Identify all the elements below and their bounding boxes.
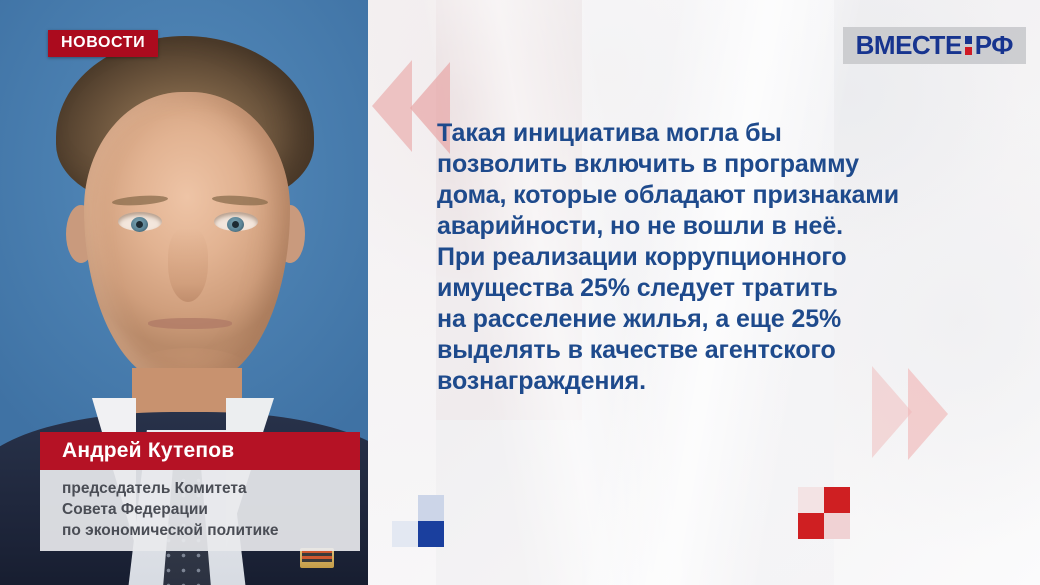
speaker-name: Андрей Кутепов bbox=[40, 432, 360, 470]
speaker-title: председатель Комитета Совета Федерации п… bbox=[40, 470, 360, 551]
colon-dot-top bbox=[965, 36, 972, 44]
chevron-left-icon-outer bbox=[372, 60, 412, 152]
news-badge: НОВОСТИ bbox=[48, 30, 158, 57]
broadcast-screenshot: НОВОСТИ Андрей Кутепов председатель Коми… bbox=[0, 0, 1040, 585]
portrait-eye-right bbox=[214, 212, 258, 231]
lower-third-nameplate: Андрей Кутепов председатель Комитета Сов… bbox=[40, 432, 360, 551]
quote-text: Такая инициатива могла бы позволить вклю… bbox=[437, 118, 997, 397]
speaker-photo-panel: НОВОСТИ Андрей Кутепов председатель Коми… bbox=[0, 0, 368, 585]
portrait-nose bbox=[168, 228, 208, 302]
colon-separator-icon bbox=[965, 36, 972, 55]
channel-logo-text-right: РФ bbox=[975, 32, 1013, 58]
portrait-iris-right bbox=[227, 217, 244, 232]
colon-dot-bottom bbox=[965, 47, 972, 55]
quote-panel: Такая инициатива могла бы позволить вклю… bbox=[368, 0, 1040, 585]
portrait-iris-left bbox=[131, 217, 148, 232]
decor-square-red-topright bbox=[824, 487, 850, 513]
channel-logo: ВМЕСТЕ РФ bbox=[843, 27, 1026, 64]
decor-square-blue-pale-left bbox=[392, 521, 418, 547]
decor-square-blue bbox=[418, 521, 444, 547]
portrait-eye-left bbox=[118, 212, 162, 231]
decor-square-red-bottomleft bbox=[798, 513, 824, 539]
decor-square-red-pale-bottomright bbox=[824, 513, 850, 539]
portrait-mouth bbox=[148, 318, 232, 329]
decor-square-red-pale-topleft bbox=[798, 487, 824, 513]
decor-square-blue-pale-top bbox=[418, 495, 444, 521]
channel-logo-text-left: ВМЕСТЕ bbox=[856, 32, 962, 58]
